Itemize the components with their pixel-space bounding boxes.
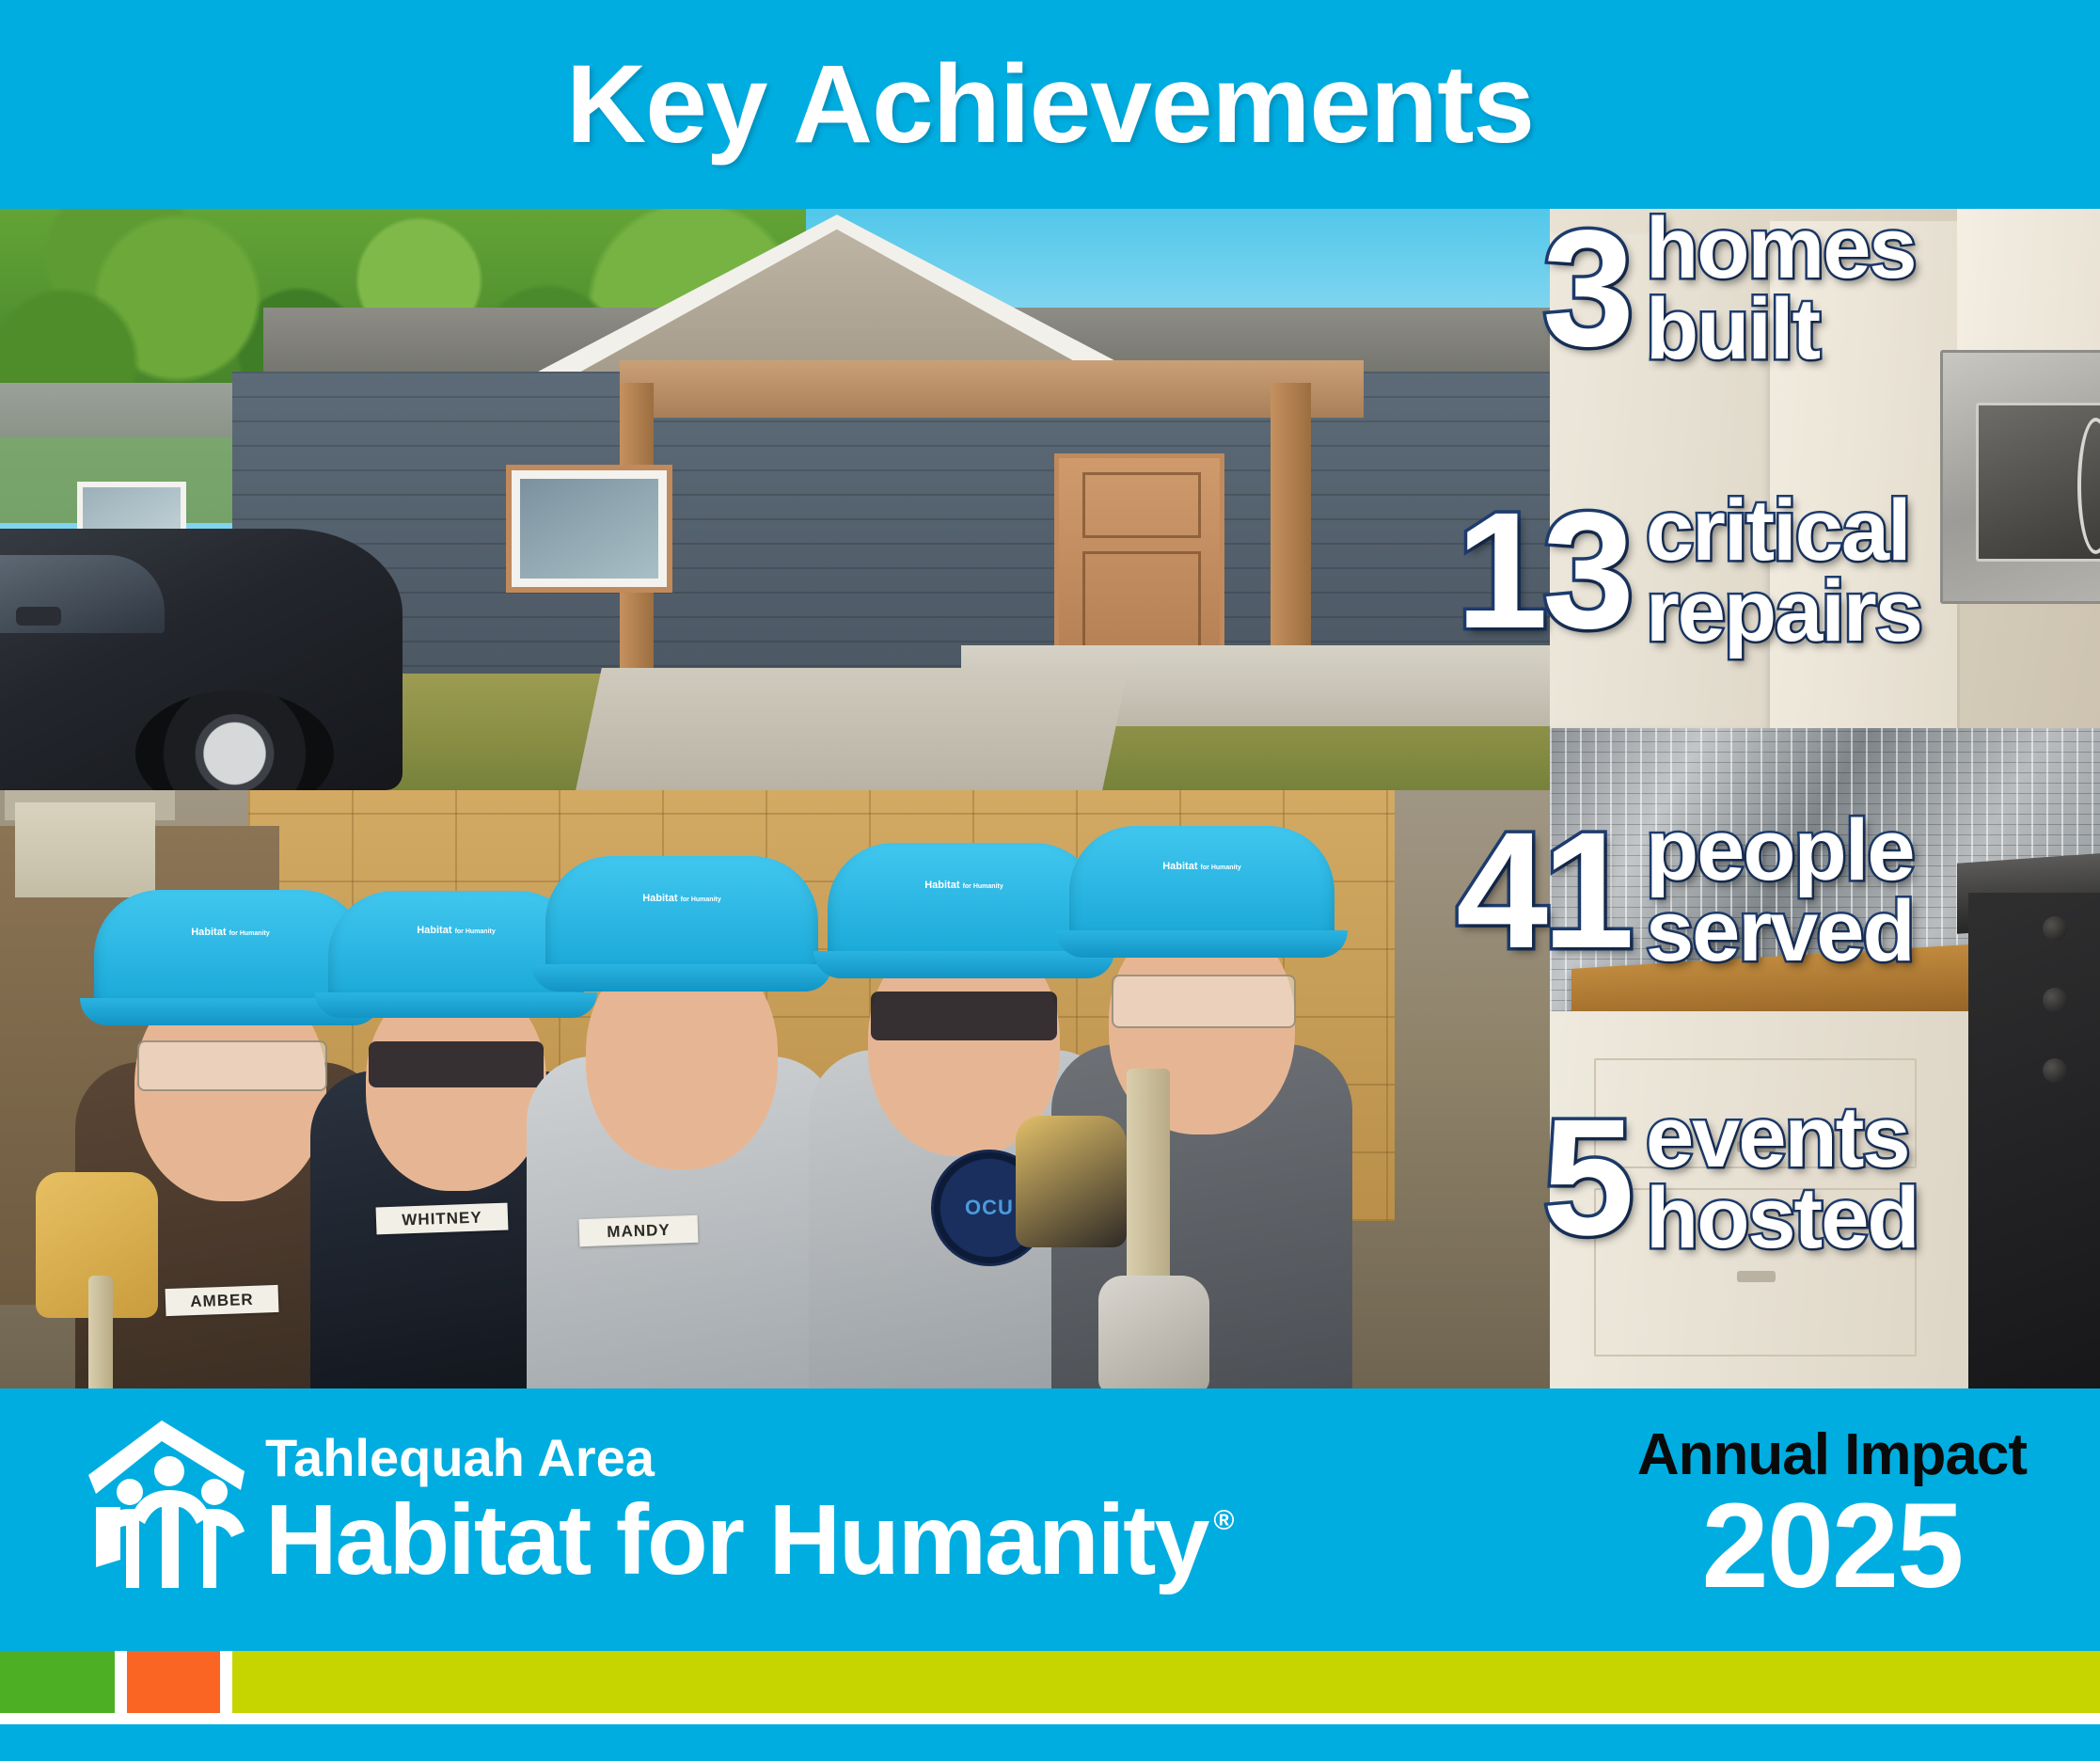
safety-glasses-icon — [137, 1040, 327, 1091]
siding — [232, 372, 1550, 691]
hardhat-logo-line2: for Humanity — [681, 896, 721, 903]
registered-mark: ® — [1213, 1505, 1234, 1537]
impact-title: Annual Impact — [1637, 1426, 2027, 1484]
bottom-color-strip — [0, 1651, 2100, 1761]
side-mirror — [16, 607, 60, 625]
habitat-house-people-icon — [83, 1417, 248, 1595]
habitat-wordmark: Tahlequah Area Habitat for Humanity ® — [265, 1432, 1235, 1590]
kitchen-photo — [1550, 209, 2100, 1388]
hard-hat-brim — [1056, 930, 1348, 957]
habitat-logo-icon: Habitat for Humanity — [1149, 862, 1255, 914]
eyeglasses-icon — [1112, 975, 1296, 1028]
page-title: Key Achievements — [566, 49, 1534, 160]
walkway — [576, 668, 1129, 790]
volunteers-photo: Habitat for Humanity AMBER Habitat for — [0, 790, 1550, 1388]
house-photo — [0, 209, 1550, 790]
hardhat-logo-line1: Habitat — [1162, 861, 1197, 872]
photo-collage: Habitat for Humanity AMBER Habitat for — [0, 209, 2100, 1388]
hard-hat: Habitat for Humanity — [1069, 826, 1334, 946]
footer-bar: Tahlequah Area Habitat for Humanity ® An… — [0, 1388, 2100, 1651]
drawer-handle-icon — [1737, 1141, 1776, 1153]
wheel — [135, 690, 334, 790]
habitat-logo-icon: Habitat for Humanity — [627, 894, 736, 948]
burner-knob-icon — [2043, 988, 2067, 1012]
habitat-logo-icon: Habitat for Humanity — [404, 926, 507, 977]
logo-line1: Tahlequah Area — [265, 1432, 1235, 1484]
infographic-poster: Key Achievements — [0, 0, 2100, 1761]
hard-hat: Habitat for Humanity — [545, 856, 818, 980]
front-window — [512, 470, 667, 587]
strip-gap — [220, 1651, 232, 1713]
strip-blocks-row — [0, 1651, 2100, 1713]
habitat-logo: Tahlequah Area Habitat for Humanity ® — [83, 1417, 1235, 1595]
hardhat-logo-line1: Habitat — [642, 893, 677, 904]
microwave — [1940, 350, 2100, 603]
work-glove — [1016, 1116, 1127, 1247]
annual-impact-block: Annual Impact 2025 — [1637, 1426, 2027, 1607]
hardhat-logo-line1: Habitat — [417, 925, 451, 936]
strip-baseline — [0, 1724, 2100, 1761]
door-panel — [1082, 472, 1201, 539]
parked-suv — [0, 529, 403, 790]
impact-year: 2025 — [1637, 1486, 2027, 1607]
porch-ceiling — [620, 360, 1364, 419]
burner-knob-icon — [2043, 1058, 2067, 1083]
shovel-handle — [88, 1276, 113, 1388]
name-tag: MANDY — [579, 1215, 699, 1246]
hardhat-logo-line2: for Humanity — [1201, 865, 1241, 871]
green-block — [0, 1651, 115, 1713]
header-bar: Key Achievements — [0, 0, 2100, 209]
volunteer-mandy: Habitat for Humanity MANDY — [527, 852, 837, 1388]
volunteer-five: Habitat for Humanity — [1051, 833, 1352, 1388]
kitchen-cabinet-left — [1550, 232, 1773, 728]
habitat-logo-icon: Habitat for Humanity — [909, 880, 1018, 935]
strip-gap — [115, 1651, 127, 1713]
name-tag: WHITNEY — [376, 1203, 509, 1235]
habitat-logo-icon: Habitat for Humanity — [176, 928, 285, 982]
sunglasses-icon — [369, 1041, 544, 1087]
orange-block — [127, 1651, 220, 1713]
range — [1968, 893, 2100, 1388]
hard-hat-brim — [531, 964, 831, 992]
name-tag: AMBER — [166, 1285, 279, 1316]
lime-block — [232, 1651, 2100, 1713]
hardhat-logo-line1: Habitat — [191, 927, 226, 938]
hardhat-logo-line2: for Humanity — [455, 928, 496, 935]
hardhat-logo-line2: for Humanity — [963, 883, 1003, 890]
hardhat-logo-line1: Habitat — [924, 880, 959, 891]
hardhat-logo-line2: for Humanity — [229, 930, 270, 937]
drawer-handle-icon — [1737, 1271, 1776, 1283]
logo-line2: Habitat for Humanity — [265, 1490, 1208, 1590]
kitchen-cabinet-center — [1770, 221, 1960, 740]
sunglasses-icon — [871, 992, 1057, 1040]
work-glove — [1098, 1276, 1209, 1388]
